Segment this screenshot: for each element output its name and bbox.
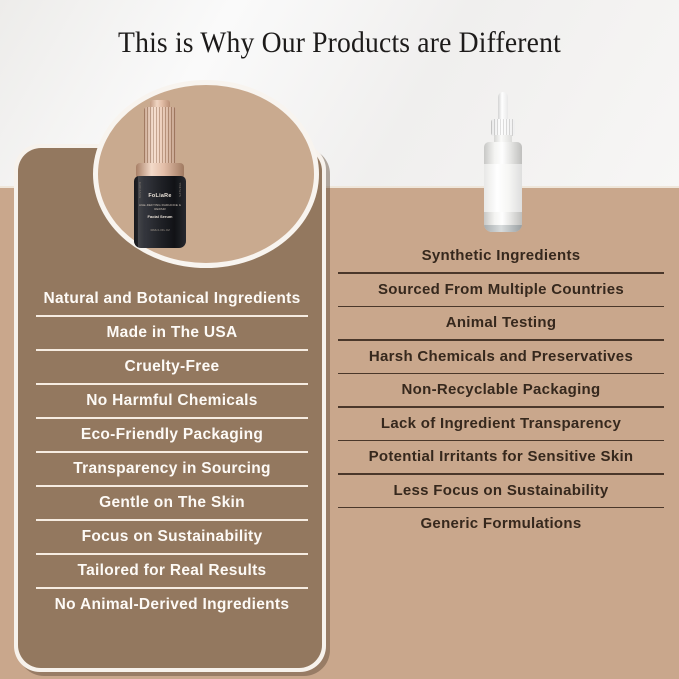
list-item: Harsh Chemicals and Preservatives [338, 341, 664, 373]
bottle-subtitle: Facial Serum [134, 214, 186, 219]
page-title: This is Why Our Products are Different [27, 26, 652, 60]
list-item: Tailored for Real Results [36, 555, 308, 587]
list-item: Animal Testing [338, 307, 664, 339]
dropper-pipette-icon [498, 92, 508, 122]
list-item: Potential Irritants for Sensitive Skin [338, 441, 664, 473]
other-products-list: Synthetic IngredientsSourced From Multip… [338, 240, 664, 540]
our-product-bottle-image: RADIANCE NATURAL FoLiaRe AGE-DEFYING RAD… [120, 100, 200, 250]
dropper-cap [491, 119, 515, 136]
list-item: Non-Recyclable Packaging [338, 374, 664, 406]
bottle-brand-name: FoLiaRe [134, 193, 186, 199]
list-item: Cruelty-Free [36, 351, 308, 383]
generic-product-bottle-image [474, 92, 532, 240]
list-item: Transparency in Sourcing [36, 453, 308, 485]
bottle-blank-label [484, 164, 522, 212]
bottle-volume: 30ML/1.0FL.OZ [134, 228, 186, 232]
list-item: Synthetic Ingredients [338, 240, 664, 272]
list-item: No Animal-Derived Ingredients [36, 589, 308, 621]
list-item: Generic Formulations [338, 508, 664, 540]
bottle-description: AGE-DEFYING RADIANCE & REPAIR [134, 204, 186, 211]
list-item: Sourced From Multiple Countries [338, 274, 664, 306]
list-item: Eco-Friendly Packaging [36, 419, 308, 451]
list-item: Lack of Ingredient Transparency [338, 408, 664, 440]
list-item: Natural and Botanical Ingredients [36, 283, 308, 315]
infographic-canvas: This is Why Our Products are Different R… [0, 0, 679, 679]
list-item: Gentle on The Skin [36, 487, 308, 519]
list-item: Less Focus on Sustainability [338, 475, 664, 507]
our-products-list: Natural and Botanical IngredientsMade in… [36, 283, 308, 621]
bottle-body [484, 142, 522, 232]
bottle-body-dark: RADIANCE NATURAL FoLiaRe AGE-DEFYING RAD… [134, 176, 186, 248]
bottle-base [484, 225, 522, 232]
bottle-ribbed-cap [144, 107, 176, 165]
list-item: Made in The USA [36, 317, 308, 349]
list-item: Focus on Sustainability [36, 521, 308, 553]
list-item: No Harmful Chemicals [36, 385, 308, 417]
